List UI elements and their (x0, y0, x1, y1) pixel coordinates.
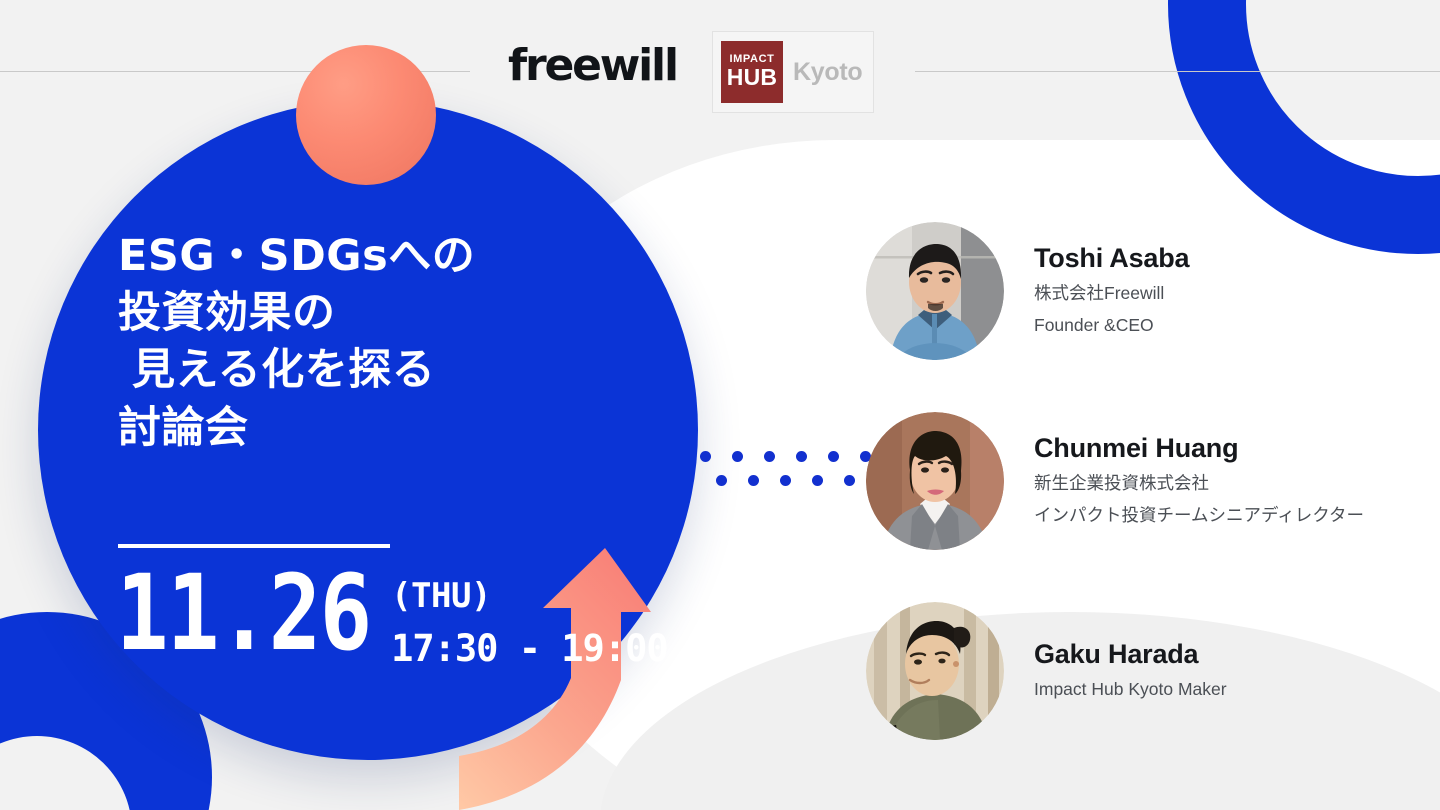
event-title: ESG・SDGsへの 投資効果の 見える化を探る 討論会 (118, 228, 578, 457)
avatar (866, 412, 1004, 550)
impact-hub-kyoto-logo: IMPACT HUB Kyoto (712, 31, 874, 113)
event-title-line-2: 投資効果の (118, 285, 578, 342)
avatar (866, 602, 1004, 740)
avatar (866, 222, 1004, 360)
title-underline-rule (118, 544, 390, 548)
speaker-info: Gaku Harada Impact Hub Kyoto Maker (1034, 638, 1227, 704)
speaker-name: Gaku Harada (1034, 638, 1227, 672)
connector-dot (844, 475, 855, 486)
connector-dot (812, 475, 823, 486)
speaker-name: Toshi Asaba (1034, 242, 1189, 276)
impact-hub-city-text: Kyoto (793, 58, 862, 87)
connector-dot (764, 451, 775, 462)
speaker-name: Chunmei Huang (1034, 432, 1364, 466)
event-datetime-block: 11.26 (THU) 17:30 - 19:00 (116, 566, 668, 670)
connector-dot (716, 475, 727, 486)
logo-bar: freewill IMPACT HUB Kyoto (0, 0, 1440, 130)
freewill-logo: freewill (508, 44, 677, 88)
connector-dot (732, 451, 743, 462)
event-date: 11.26 (116, 566, 371, 662)
event-title-line-1: ESG・SDGsへの (118, 228, 578, 285)
speaker-affiliation: 株式会社Freewill (1034, 279, 1189, 308)
impact-hub-mark: IMPACT HUB (721, 41, 783, 103)
speaker-item: Chunmei Huang 新生企業投資株式会社 インパクト投資チームシニアディ… (866, 386, 1426, 576)
event-poster: freewill IMPACT HUB Kyoto ESG・SDGsへの 投資効… (0, 0, 1440, 810)
connector-dot (796, 451, 807, 462)
speaker-list: Toshi Asaba 株式会社Freewill Founder &CEO (866, 196, 1426, 766)
connector-dot (828, 451, 839, 462)
speaker-role: Founder &CEO (1034, 311, 1189, 340)
event-title-line-4: 討論会 (118, 400, 578, 457)
connector-dot (780, 475, 791, 486)
speaker-info: Toshi Asaba 株式会社Freewill Founder &CEO (1034, 242, 1189, 340)
event-day-of-week: (THU) (391, 578, 668, 615)
impact-hub-hub-text: HUB (727, 65, 777, 89)
event-datetime-side: (THU) 17:30 - 19:00 (391, 566, 668, 670)
event-title-line-3: 見える化を探る (118, 342, 578, 399)
event-time: 17:30 - 19:00 (391, 629, 668, 670)
speaker-item: Gaku Harada Impact Hub Kyoto Maker (866, 576, 1426, 766)
speaker-item: Toshi Asaba 株式会社Freewill Founder &CEO (866, 196, 1426, 386)
speaker-affiliation: 新生企業投資株式会社 (1034, 469, 1364, 498)
connector-dot (748, 475, 759, 486)
connector-dot (700, 451, 711, 462)
speaker-info: Chunmei Huang 新生企業投資株式会社 インパクト投資チームシニアディ… (1034, 432, 1364, 530)
dotted-connector (700, 443, 876, 489)
speaker-role: インパクト投資チームシニアディレクター (1034, 501, 1364, 530)
speaker-affiliation: Impact Hub Kyoto Maker (1034, 675, 1227, 704)
hero-text-block: ESG・SDGsへの 投資効果の 見える化を探る 討論会 (118, 228, 578, 457)
